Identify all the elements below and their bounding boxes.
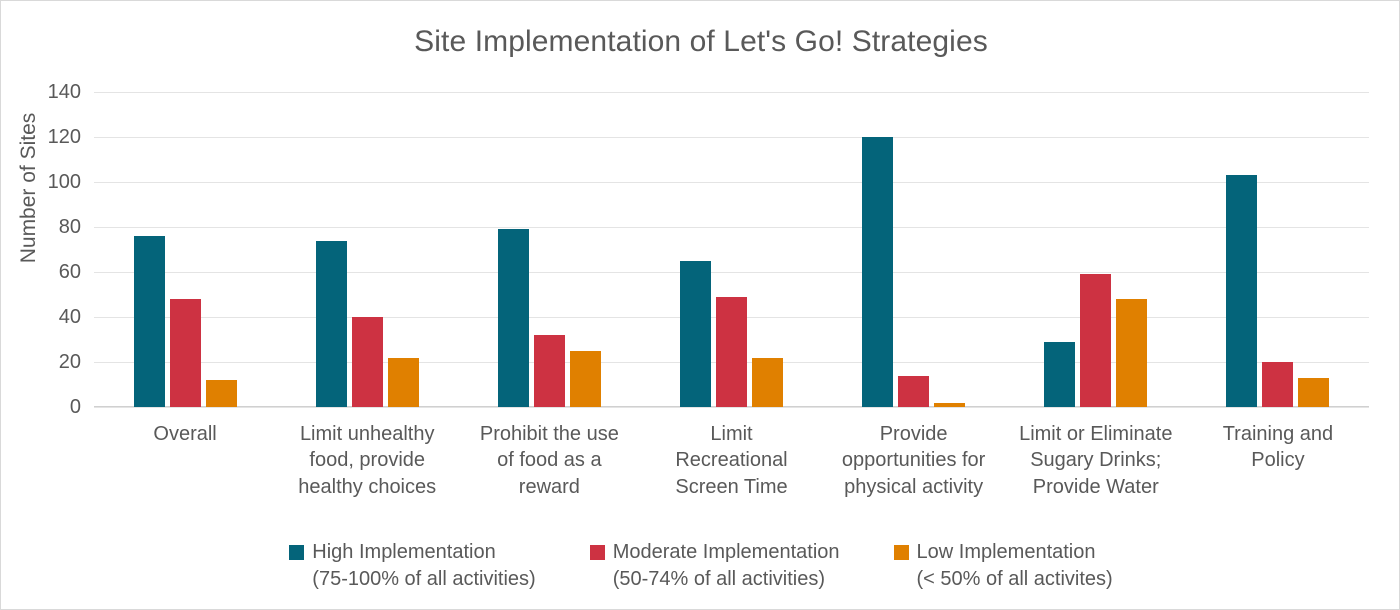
bar[interactable] — [1298, 378, 1329, 407]
legend-label: Moderate Implementation(50-74% of all ac… — [613, 539, 840, 593]
x-tick-label: Limit or EliminateSugary Drinks;Provide … — [1005, 421, 1187, 500]
legend-swatch-icon — [590, 545, 605, 560]
bar[interactable] — [534, 335, 565, 407]
bar[interactable] — [316, 241, 347, 408]
bar[interactable] — [1080, 274, 1111, 407]
y-tick-label: 140 — [11, 82, 81, 102]
bar-slot — [1262, 92, 1293, 407]
bar[interactable] — [170, 299, 201, 407]
y-tick-label: 60 — [11, 262, 81, 282]
bar-slot — [388, 92, 419, 407]
bar-group — [640, 92, 822, 407]
x-tick-label: Limit unhealthyfood, providehealthy choi… — [276, 421, 458, 500]
bar-slot — [1080, 92, 1111, 407]
bar[interactable] — [898, 376, 929, 408]
bar[interactable] — [570, 351, 601, 407]
legend-swatch-icon — [894, 545, 909, 560]
bar[interactable] — [934, 403, 965, 408]
bar-slot — [1226, 92, 1257, 407]
bar[interactable] — [352, 317, 383, 407]
y-tick-label: 20 — [11, 352, 81, 372]
x-tick-label: Provideopportunities forphysical activit… — [823, 421, 1005, 500]
bar-slot — [752, 92, 783, 407]
chart-title: Site Implementation of Let's Go! Strateg… — [1, 25, 1400, 59]
bar-slot — [498, 92, 529, 407]
legend-item[interactable]: Moderate Implementation(50-74% of all ac… — [590, 539, 840, 593]
bar-groups — [94, 92, 1369, 407]
gridline — [94, 407, 1369, 408]
bar-slot — [716, 92, 747, 407]
bar-slot — [862, 92, 893, 407]
bar-slot — [206, 92, 237, 407]
x-tick-label: Training andPolicy — [1187, 421, 1369, 500]
bar[interactable] — [1226, 175, 1257, 407]
bar-slot — [934, 92, 965, 407]
chart-screenshot: Site Implementation of Let's Go! Strateg… — [0, 0, 1400, 610]
bar[interactable] — [1116, 299, 1147, 407]
bar[interactable] — [206, 380, 237, 407]
x-tick-label: Overall — [94, 421, 276, 500]
bar-slot — [134, 92, 165, 407]
bar-group — [1005, 92, 1187, 407]
x-tick-label: LimitRecreationalScreen Time — [640, 421, 822, 500]
y-tick-label: 0 — [11, 397, 81, 417]
y-tick-label: 100 — [11, 172, 81, 192]
bar-slot — [898, 92, 929, 407]
bar-slot — [1116, 92, 1147, 407]
bar[interactable] — [752, 358, 783, 408]
legend-label: High Implementation(75-100% of all activ… — [312, 539, 535, 593]
bar-slot — [570, 92, 601, 407]
legend-item[interactable]: Low Implementation(< 50% of all activite… — [894, 539, 1113, 593]
x-axis-category-labels: OverallLimit unhealthyfood, providehealt… — [94, 421, 1369, 500]
bar-slot — [1298, 92, 1329, 407]
bar[interactable] — [1262, 362, 1293, 407]
y-tick-label: 120 — [11, 127, 81, 147]
bar-slot — [170, 92, 201, 407]
bar-group — [94, 92, 276, 407]
y-tick-label: 40 — [11, 307, 81, 327]
bar[interactable] — [1044, 342, 1075, 407]
bar-group — [458, 92, 640, 407]
plot-area — [94, 92, 1369, 407]
legend-label: Low Implementation(< 50% of all activite… — [917, 539, 1113, 593]
bar-slot — [534, 92, 565, 407]
bar-group — [1187, 92, 1369, 407]
bar-group — [823, 92, 1005, 407]
bar[interactable] — [134, 236, 165, 407]
bar-group — [276, 92, 458, 407]
chart-legend: High Implementation(75-100% of all activ… — [1, 539, 1400, 593]
bar[interactable] — [862, 137, 893, 407]
x-tick-label: Prohibit the useof food as areward — [458, 421, 640, 500]
bar[interactable] — [498, 229, 529, 407]
bar[interactable] — [716, 297, 747, 407]
y-tick-label: 80 — [11, 217, 81, 237]
bar-slot — [1044, 92, 1075, 407]
bar-slot — [680, 92, 711, 407]
bar-slot — [352, 92, 383, 407]
bar-slot — [316, 92, 347, 407]
bar[interactable] — [388, 358, 419, 408]
legend-swatch-icon — [289, 545, 304, 560]
bar[interactable] — [680, 261, 711, 407]
legend-item[interactable]: High Implementation(75-100% of all activ… — [289, 539, 535, 593]
